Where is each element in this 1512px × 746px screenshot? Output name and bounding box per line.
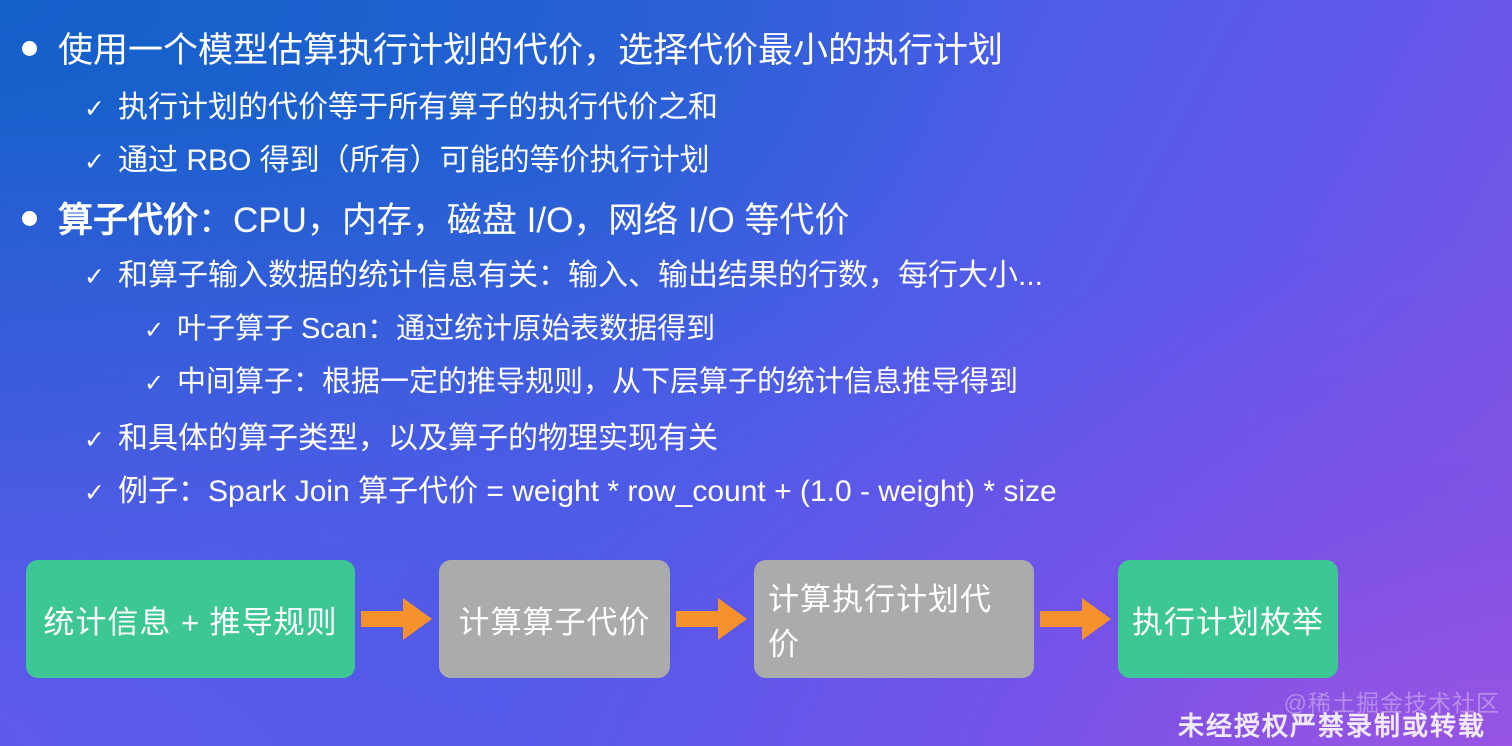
- check-icon: ✓: [84, 262, 118, 292]
- bullet-item: ✓ 执行计划的代价等于所有算子的执行代价之和: [0, 82, 1512, 135]
- bullet-text: ：CPU，内存，磁盘 I/O，网络 I/O 等代价: [198, 192, 849, 243]
- bullet-dot-icon: [22, 208, 58, 230]
- process-flow-diagram: 统计信息 + 推导规则 计算算子代价 计算执行计划代价 执行计划枚举: [26, 560, 1442, 678]
- presentation-slide: 使用一个模型估算执行计划的代价，选择代价最小的执行计划 ✓ 执行计划的代价等于所…: [0, 0, 1512, 746]
- bullet-list: 使用一个模型估算执行计划的代价，选择代价最小的执行计划 ✓ 执行计划的代价等于所…: [0, 0, 1512, 519]
- flow-node-plan-enumeration: 执行计划枚举: [1118, 560, 1338, 678]
- flow-node-label: 计算执行计划代价: [768, 574, 1020, 664]
- bullet-text-emphasis: 算子代价: [58, 192, 198, 243]
- bullet-text: 执行计划的代价等于所有算子的执行代价之和: [118, 82, 718, 126]
- bullet-text: 中间算子：根据一定的推导规则，从下层算子的统计信息推导得到: [177, 358, 1018, 400]
- bullet-text: 使用一个模型估算执行计划的代价，选择代价最小的执行计划: [58, 22, 1003, 73]
- flow-node-statistics: 统计信息 + 推导规则: [26, 560, 355, 678]
- bullet-item: ✓ 和具体的算子类型，以及算子的物理实现有关: [0, 413, 1512, 466]
- check-icon: ✓: [144, 369, 177, 398]
- flow-node-label: 计算算子代价: [459, 597, 651, 642]
- bullet-item: ✓ 中间算子：根据一定的推导规则，从下层算子的统计信息推导得到: [0, 358, 1512, 411]
- bullet-item: ✓ 例子：Spark Join 算子代价 = weight * row_coun…: [0, 466, 1512, 519]
- bullet-text: 叶子算子 Scan：通过统计原始表数据得到: [177, 305, 715, 347]
- bullet-item: ✓ 叶子算子 Scan：通过统计原始表数据得到: [0, 305, 1512, 358]
- bullet-text: 通过 RBO 得到（所有）可能的等价执行计划: [118, 135, 710, 179]
- flow-node-plan-cost: 计算执行计划代价: [754, 560, 1034, 678]
- bullet-text: 和具体的算子类型，以及算子的物理实现有关: [118, 413, 718, 457]
- flow-arrow-icon: [670, 596, 754, 642]
- bullet-item: 使用一个模型估算执行计划的代价，选择代价最小的执行计划: [0, 22, 1512, 76]
- bullet-item: ✓ 和算子输入数据的统计信息有关：输入、输出结果的行数，每行大小...: [0, 250, 1512, 303]
- check-icon: ✓: [84, 478, 118, 508]
- bullet-item: ✓ 通过 RBO 得到（所有）可能的等价执行计划: [0, 135, 1512, 188]
- bullet-text-formula: 例子：Spark Join 算子代价 = weight * row_count …: [118, 466, 1057, 510]
- copyright-notice-watermark: 未经授权严禁录制或转载: [1178, 706, 1486, 743]
- flow-arrow-icon: [1034, 596, 1118, 642]
- flow-node-label: 执行计划枚举: [1132, 597, 1324, 642]
- check-icon: ✓: [84, 94, 118, 124]
- bullet-dot-icon: [22, 38, 58, 60]
- check-icon: ✓: [144, 316, 177, 345]
- flow-node-label: 统计信息 + 推导规则: [43, 597, 337, 642]
- flow-node-operator-cost: 计算算子代价: [439, 560, 670, 678]
- flow-arrow-icon: [355, 596, 439, 642]
- bullet-text: 和算子输入数据的统计信息有关：输入、输出结果的行数，每行大小...: [118, 250, 1043, 294]
- check-icon: ✓: [84, 147, 118, 177]
- check-icon: ✓: [84, 425, 118, 455]
- bullet-item: 算子代价 ：CPU，内存，磁盘 I/O，网络 I/O 等代价: [0, 192, 1512, 246]
